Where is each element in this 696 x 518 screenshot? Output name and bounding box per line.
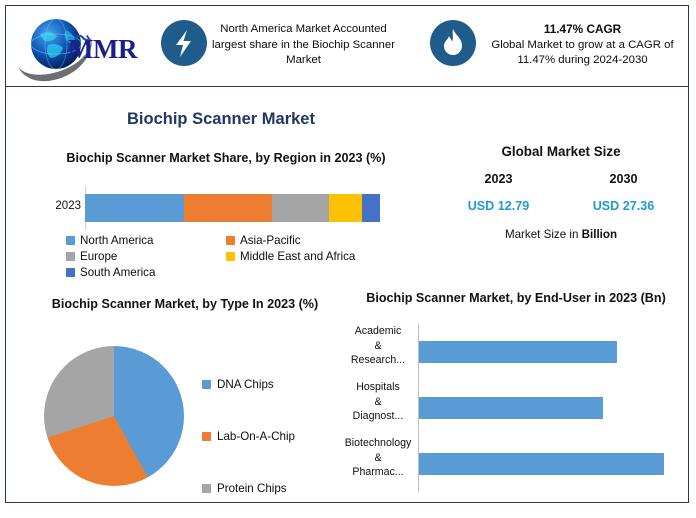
region-legend-item: Asia-Pacific: [226, 234, 396, 247]
legend-swatch-icon: [202, 432, 211, 441]
lightning-bolt-icon: [161, 20, 207, 66]
legend-swatch-icon: [226, 236, 235, 245]
end-user-row: Academic&Research...: [342, 324, 672, 380]
region-legend-item: Middle East and Africa: [226, 250, 396, 263]
region-legend-label: North America: [80, 234, 153, 247]
header-highlight-1-text: North America Market Accounted largest s…: [211, 22, 396, 69]
legend-swatch-icon: [202, 380, 211, 389]
market-size-2030-value: USD 27.36: [569, 199, 679, 213]
market-size-2030-year: 2030: [569, 172, 679, 186]
legend-swatch-icon: [226, 252, 235, 261]
flame-icon: [430, 20, 476, 66]
type-legend-item: Protein Chips: [202, 462, 352, 514]
region-chart: 2023: [61, 186, 391, 234]
market-size-2023-value: USD 12.79: [444, 199, 554, 213]
region-segment: [362, 194, 380, 222]
region-category-label: 2023: [33, 200, 81, 212]
header-highlight-2-text: Global Market to grow at a CAGR of 11.47…: [491, 39, 673, 67]
end-user-category-label: Biotechnology&Pharmac...: [342, 436, 414, 480]
region-segment: [184, 194, 272, 222]
region-legend-item: Europe: [66, 250, 226, 263]
end-user-bar: [419, 341, 617, 363]
type-legend-item: DNA Chips: [202, 358, 352, 410]
end-user-bar: [419, 397, 603, 419]
page-title: Biochip Scanner Market: [6, 110, 436, 129]
region-legend-item: South America: [66, 266, 226, 279]
region-segment: [272, 194, 329, 222]
legend-swatch-icon: [202, 484, 211, 493]
end-user-bar: [419, 453, 664, 475]
region-legend-label: Asia-Pacific: [240, 234, 301, 247]
region-legend: North AmericaAsia-PacificEuropeMiddle Ea…: [66, 232, 396, 280]
header-highlight-2: 11.47% CAGR Global Market to grow at a C…: [480, 22, 685, 69]
end-user-category-label: Hospitals&Diagnost...: [342, 380, 414, 424]
type-legend: DNA ChipsLab-On-A-ChipProtein Chips: [202, 358, 352, 514]
end-user-row: Biotechnology&Pharmac...: [342, 436, 672, 492]
logo-text: MMR: [68, 34, 137, 65]
market-size-footnote-prefix: Market Size in: [505, 228, 582, 241]
region-chart-title: Biochip Scanner Market Share, by Region …: [46, 150, 406, 167]
global-market-size-title: Global Market Size: [436, 144, 686, 159]
end-user-chart: Academic&Research...Hospitals&Diagnost..…: [342, 324, 672, 496]
end-user-category-label: Academic&Research...: [342, 324, 414, 368]
end-user-chart-title: Biochip Scanner Market, by End-User in 2…: [342, 290, 690, 307]
type-legend-item: Lab-On-A-Chip: [202, 410, 352, 462]
market-size-2030: 2030 USD 27.36: [569, 172, 679, 213]
region-legend-label: Europe: [80, 250, 117, 263]
infographic-frame: ⤳ MMR North America Market Accounted lar…: [5, 5, 689, 503]
type-legend-label: Protein Chips: [217, 482, 287, 495]
legend-swatch-icon: [66, 236, 75, 245]
region-legend-label: Middle East and Africa: [240, 250, 355, 263]
type-legend-label: Lab-On-A-Chip: [217, 430, 295, 443]
type-chart-title: Biochip Scanner Market, by Type In 2023 …: [30, 296, 340, 313]
end-user-row: Hospitals&Diagnost...: [342, 380, 672, 436]
global-market-size-panel: Global Market Size 2023 USD 12.79 2030 U…: [436, 144, 686, 241]
type-pie-slices: [44, 346, 184, 486]
market-size-footnote-unit: Billion: [582, 228, 617, 241]
type-pie-chart: [44, 346, 184, 486]
header: ⤳ MMR North America Market Accounted lar…: [6, 6, 688, 87]
market-size-2023: 2023 USD 12.79: [444, 172, 554, 213]
cagr-label: 11.47% CAGR: [480, 22, 685, 38]
brand-logo: ⤳ MMR: [16, 12, 156, 74]
legend-swatch-icon: [66, 252, 75, 261]
region-legend-label: South America: [80, 266, 155, 279]
region-legend-item: North America: [66, 234, 226, 247]
legend-swatch-icon: [66, 268, 75, 277]
type-legend-label: DNA Chips: [217, 378, 274, 391]
region-segment: [85, 194, 184, 222]
region-stacked-bar: [85, 194, 380, 222]
market-size-footnote: Market Size in Billion: [436, 228, 686, 241]
market-size-2023-year: 2023: [444, 172, 554, 186]
region-segment: [329, 194, 362, 222]
